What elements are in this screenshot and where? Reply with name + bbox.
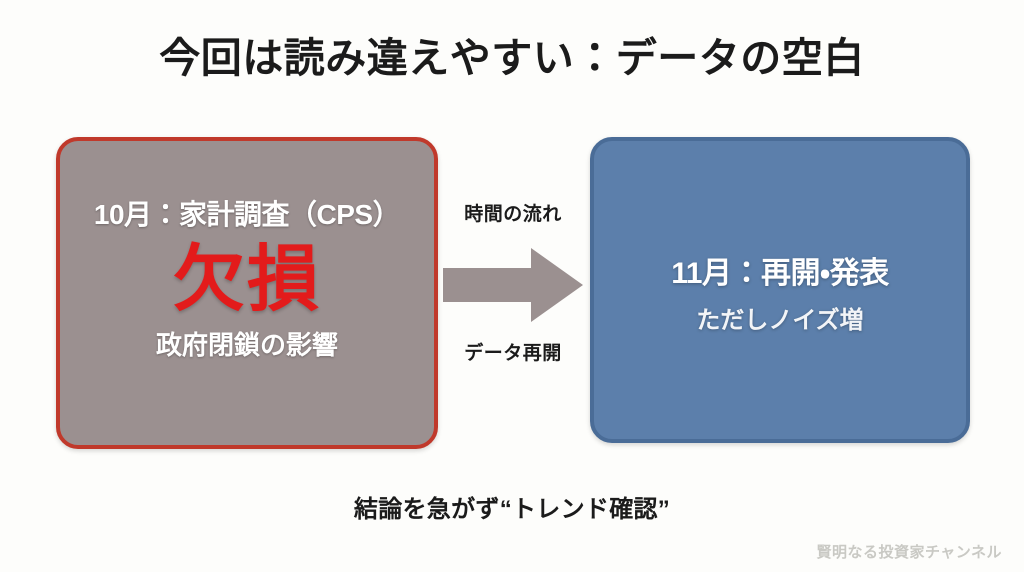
arrow-label-time-flow: 時間の流れ	[438, 199, 588, 226]
right-box-heading: 11月：再開・発表	[671, 248, 888, 292]
page-title: 今回は読み違えやすい：データの空白	[0, 36, 1024, 81]
left-phase-box: 10月：家計調査（CPS） 欠損 政府閉鎖の影響	[56, 137, 438, 449]
footer-note: 結論を急がず“トレンド確認”	[0, 489, 1024, 524]
right-arrow-icon	[443, 246, 583, 324]
right-phase-box: 11月：再開・発表 ただしノイズ増	[590, 137, 970, 443]
arrow-label-data-resume: データ再開	[438, 338, 588, 365]
left-box-highlight: 欠損	[173, 243, 321, 319]
left-box-heading: 10月：家計調査（CPS）	[94, 193, 400, 233]
slide-canvas: 今回は読み違えやすい：データの空白 10月：家計調査（CPS） 欠損 政府閉鎖の…	[0, 0, 1024, 572]
left-box-subtext: 政府閉鎖の影響	[156, 325, 338, 362]
right-box-subtext: ただしノイズ増	[696, 300, 863, 335]
channel-watermark: 賢明なる投資家チャンネル	[816, 541, 1002, 562]
